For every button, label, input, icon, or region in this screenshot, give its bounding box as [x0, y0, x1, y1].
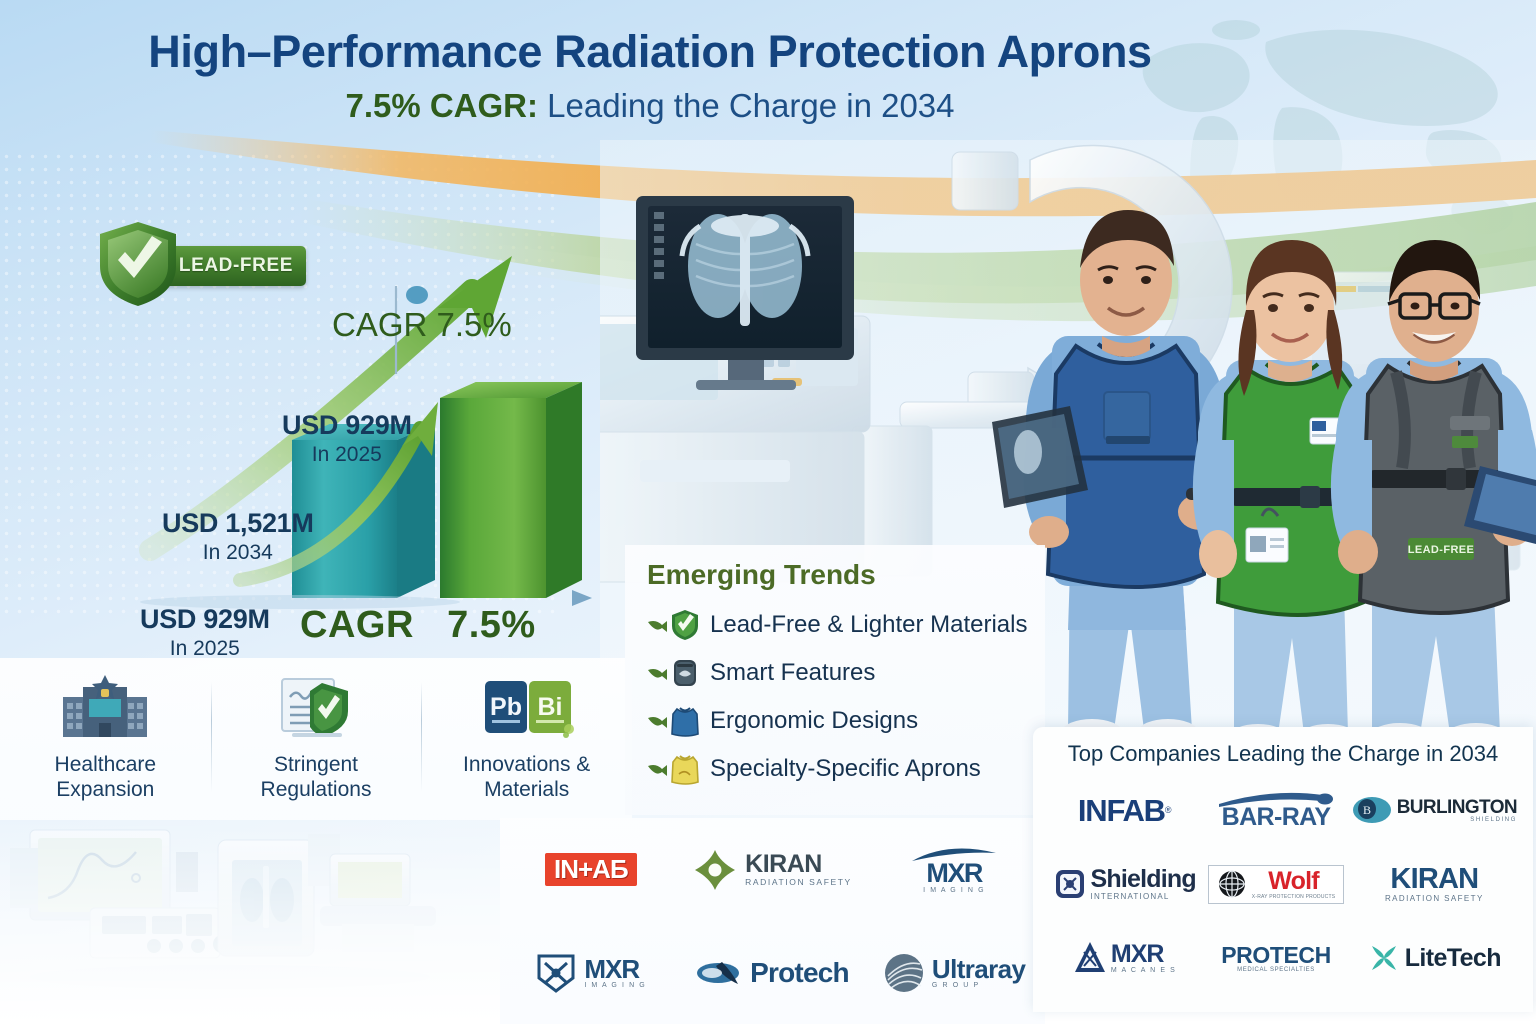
driver-label-regulations: StringentRegulations: [211, 752, 422, 802]
top-companies-title: Top Companies Leading the Charge in 2034: [1049, 741, 1517, 767]
emerging-trends-panel: Emerging Trends Lead-Free & Lighter Mate…: [625, 545, 1045, 815]
svg-text:Bi: Bi: [537, 693, 562, 721]
ultraray-globe-icon: [883, 952, 925, 994]
top-companies-grid: INFAB ® BAR-RAY B BURLINGTON SHIELD: [1049, 773, 1517, 995]
protech-swoosh-icon: [696, 958, 744, 988]
company-logo-litetech[interactable]: LiteTech: [1368, 942, 1501, 974]
shield-check-icon: [670, 609, 700, 641]
bar-period-2025-top: In 2025: [282, 443, 412, 467]
cagr-bottom-label: CAGR: [300, 604, 414, 646]
trend-item-smart-features: Smart Features: [647, 649, 1045, 697]
hospital-icon: [0, 672, 211, 744]
yellow-apron-icon: [670, 753, 700, 785]
company-logo-protech[interactable]: PROTECH MEDICAL SPECIALTIES: [1221, 944, 1331, 973]
company-text-wolf: Wolf: [1252, 869, 1335, 894]
driver-label-innovations: Innovations &Materials: [421, 752, 632, 802]
trend-item-ergonomic-designs: Ergonomic Designs: [647, 697, 1045, 745]
header: High–Performance Radiation Protection Ap…: [0, 28, 1300, 125]
shielding-badge-icon: [1054, 867, 1086, 901]
bar-value-2025-top: USD 929M: [282, 410, 412, 440]
company-logo-burlington[interactable]: B BURLINGTON SHIELDING: [1352, 796, 1517, 824]
bullet-arrow-icon: [647, 616, 669, 634]
svg-text:B: B: [1363, 803, 1371, 817]
company-text-litetech: LiteTech: [1405, 946, 1501, 971]
document-shield-icon: [211, 672, 422, 744]
litetech-x-icon: [1368, 942, 1400, 974]
logo-text-mxr-box: MXR: [584, 956, 646, 982]
company-text-kiran: KIRAN: [1390, 865, 1478, 894]
company-logo-shielding-international[interactable]: Shielding INTERNATIONAL: [1054, 867, 1196, 901]
company-text-shielding: Shielding: [1091, 867, 1196, 892]
logo-infab-red[interactable]: IN+AБ: [545, 853, 637, 886]
infographic-canvas: LEAD-FREE: [0, 0, 1536, 1024]
company-text-burlington: BURLINGTON: [1397, 798, 1517, 817]
company-sub-kiran: RADIATION SAFETY: [1385, 894, 1484, 903]
logo-text-kiran: KIRAN: [745, 852, 852, 877]
bar-label-2034: USD 1,521M In 2034: [162, 508, 314, 565]
wolf-globe-icon: [1217, 869, 1247, 899]
subtitle-rest: Leading the Charge in 2034: [538, 87, 955, 124]
faded-imaging-equipment: [0, 812, 500, 1024]
page-title: High–Performance Radiation Protection Ap…: [0, 28, 1300, 75]
trend-item-lead-free: Lead-Free & Lighter Materials: [647, 601, 1045, 649]
trend-label-ergonomic-designs: Ergonomic Designs: [710, 707, 918, 735]
partner-logo-strip: IN+AБ KIRAN RADIATION SAFETY MXR I M A G…: [500, 818, 1045, 1024]
company-text-bar-ray: BAR-RAY: [1222, 805, 1331, 830]
emerging-trends-title: Emerging Trends: [647, 559, 1045, 591]
cagr-bottom-annotation: CAGR 7.5%: [300, 604, 536, 647]
cagr-bottom-value: 7.5%: [447, 604, 536, 646]
bar-label-2025-top: USD 929M In 2025: [282, 410, 412, 467]
registered-mark-icon: ®: [1165, 805, 1172, 815]
svg-text:Pb: Pb: [490, 693, 522, 721]
market-drivers-strip: HealthcareExpansion StringentRegulations: [0, 658, 632, 820]
company-sub-mxr: M A C A N E S: [1111, 967, 1177, 974]
bullet-arrow-icon: [647, 760, 669, 778]
company-sub-protech: MEDICAL SPECIALTIES: [1237, 967, 1315, 973]
trend-item-specialty-aprons: Specialty-Specific Aprons: [647, 745, 1045, 793]
logo-text-mxr-peak: MXR: [926, 860, 982, 887]
company-sub-wolf: X-RAY PROTECTION PRODUCTS: [1252, 894, 1335, 900]
trend-label-lead-free: Lead-Free & Lighter Materials: [710, 611, 1027, 639]
company-text-protech: PROTECH: [1221, 944, 1331, 967]
trend-label-specialty-aprons: Specialty-Specific Aprons: [710, 755, 981, 783]
driver-innovations-materials: Pb Bi Innovations &Materials: [421, 672, 632, 802]
logo-protech[interactable]: Protech: [696, 958, 849, 988]
shield-check-icon: [92, 218, 184, 310]
company-logo-bar-ray[interactable]: BAR-RAY: [1217, 791, 1335, 830]
pb-bi-elements-icon: Pb Bi: [421, 672, 632, 744]
company-text-infab: INFAB: [1078, 795, 1165, 826]
driver-healthcare-expansion: HealthcareExpansion: [0, 672, 211, 802]
subtitle-cagr-accent: 7.5% CAGR:: [345, 87, 538, 124]
cagr-top-annotation: CAGR 7.5%: [332, 306, 512, 344]
driver-label-healthcare: HealthcareExpansion: [0, 752, 211, 802]
logo-text-ultraray: Ultraray: [932, 956, 1025, 982]
bar-value-2025-bottom: USD 929M: [140, 604, 270, 634]
logo-sub-kiran: RADIATION SAFETY: [745, 877, 852, 887]
burlington-oval-icon: B: [1352, 796, 1392, 824]
svg-text:LEAD-FREE: LEAD-FREE: [1408, 544, 1475, 556]
company-logo-kiran[interactable]: KIRAN RADIATION SAFETY: [1385, 865, 1484, 903]
mxr-shield-icon: [535, 952, 577, 994]
company-logo-infab[interactable]: INFAB ®: [1078, 795, 1172, 826]
bar-value-2034: USD 1,521M: [162, 508, 314, 538]
mxr-triangle-icon: [1073, 940, 1107, 976]
smart-device-icon: [670, 657, 700, 689]
bar-period-2034: In 2034: [162, 541, 314, 565]
company-sub-shielding: INTERNATIONAL: [1091, 892, 1196, 901]
driver-stringent-regulations: StringentRegulations: [211, 672, 422, 802]
company-text-mxr: MXR: [1111, 942, 1177, 967]
bullet-arrow-icon: [647, 664, 669, 682]
kiran-cross-icon: [693, 848, 737, 892]
bar-label-2025-bottom: USD 929M In 2025: [140, 604, 270, 661]
logo-kiran[interactable]: KIRAN RADIATION SAFETY: [693, 848, 852, 892]
top-companies-panel: Top Companies Leading the Charge in 2034…: [1033, 727, 1533, 1012]
logo-sub-mxr-box: I M A G I N G: [584, 982, 646, 989]
trend-label-smart-features: Smart Features: [710, 659, 875, 687]
logo-mxr-imaging-box[interactable]: MXR I M A G I N G: [535, 952, 646, 994]
logo-mxr-imaging-peak[interactable]: MXR I M A G I N G: [908, 845, 1000, 894]
company-logo-wolf[interactable]: Wolf X-RAY PROTECTION PRODUCTS: [1208, 865, 1344, 904]
bullet-arrow-icon: [647, 712, 669, 730]
logo-text-protech: Protech: [750, 959, 849, 987]
logo-ultraray[interactable]: Ultraray G R O U P: [883, 952, 1025, 994]
logo-text-infab: IN+AБ: [554, 854, 628, 884]
page-subtitle: 7.5% CAGR: Leading the Charge in 2034: [0, 87, 1300, 125]
blue-apron-icon: [670, 705, 700, 737]
company-logo-mxr[interactable]: MXR M A C A N E S: [1073, 940, 1177, 976]
logo-sub-mxr-peak: I M A G I N G: [923, 887, 985, 894]
